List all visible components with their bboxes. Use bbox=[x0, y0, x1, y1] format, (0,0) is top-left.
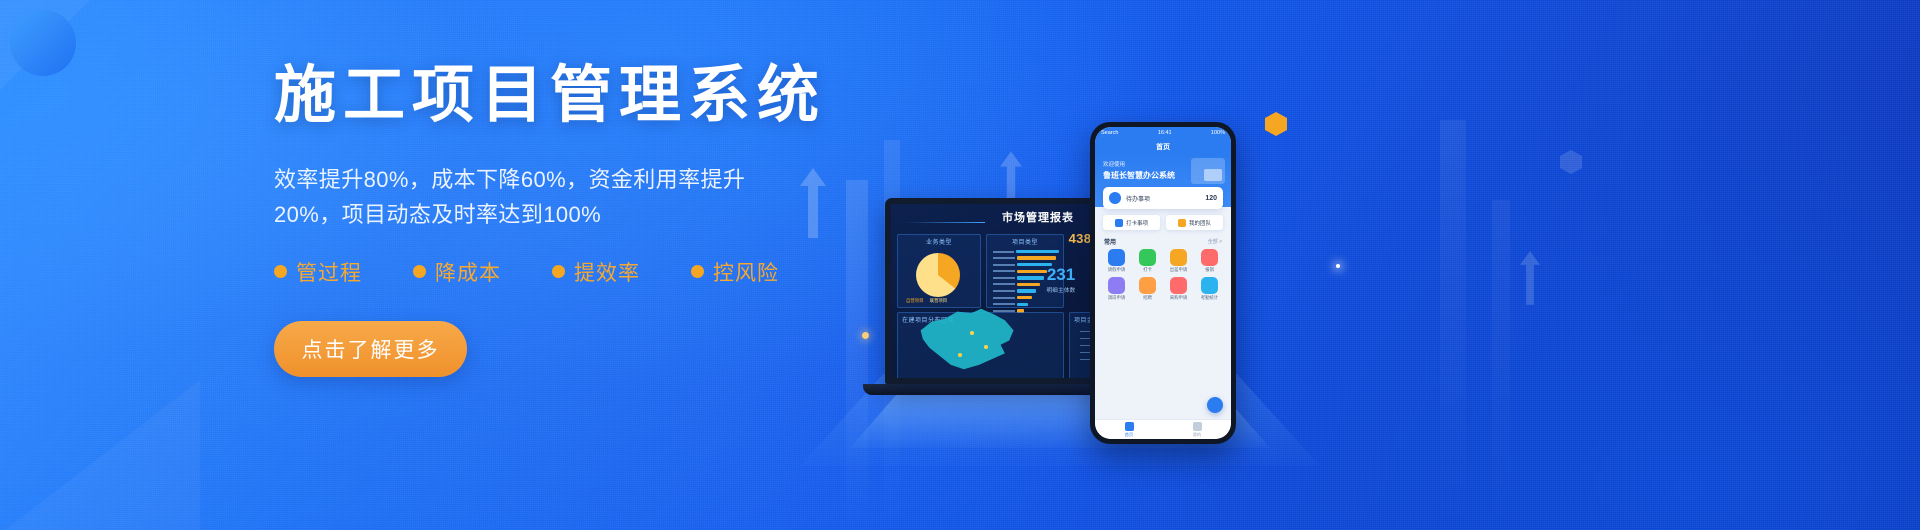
tab-profile[interactable]: 我的 bbox=[1193, 422, 1202, 438]
app-item[interactable]: 出差申请 bbox=[1164, 249, 1193, 273]
clock-icon bbox=[1115, 219, 1123, 227]
transfer-request-icon bbox=[1108, 277, 1125, 294]
purchase-request-icon bbox=[1170, 277, 1187, 294]
statusbar-battery: 100% bbox=[1211, 130, 1225, 136]
home-icon bbox=[1125, 422, 1134, 431]
reimbursement-icon bbox=[1201, 249, 1218, 266]
feature-label: 提效率 bbox=[574, 257, 640, 287]
leave-request-icon bbox=[1108, 249, 1125, 266]
hexagon-decoration bbox=[1560, 150, 1582, 174]
bar-decoration bbox=[1492, 200, 1510, 530]
feature-label: 管过程 bbox=[296, 257, 362, 287]
quick-action-buttons: 打卡事项 我的团队 bbox=[1103, 215, 1223, 230]
app-label: 打卡 bbox=[1133, 268, 1162, 273]
app-label: 采购申请 bbox=[1164, 296, 1193, 301]
map-marker bbox=[984, 345, 988, 349]
punch-card-icon bbox=[1139, 249, 1156, 266]
corner-triangle-decoration bbox=[0, 0, 130, 110]
bottom-left-triangle-decoration bbox=[0, 380, 200, 530]
device-mockup-stage: 市场管理报表 业务类型 自营项目 联营项目 项目类型 bbox=[790, 60, 1350, 490]
statusbar-time: 16:41 bbox=[1158, 130, 1172, 136]
pie-chart bbox=[916, 253, 960, 297]
app-item[interactable]: 请假申请 bbox=[1102, 249, 1131, 273]
tab-label: 我的 bbox=[1193, 432, 1202, 438]
tab-home[interactable]: 首页 bbox=[1125, 422, 1134, 438]
section-more-link[interactable]: 全部 > bbox=[1208, 238, 1222, 245]
feature-item-3: 提效率 bbox=[552, 257, 691, 287]
hero-banner: 施工项目管理系统 效率提升80%，成本下降60%，资金利用率提升20%，项目动态… bbox=[0, 0, 1920, 530]
quick-button-attendance[interactable]: 打卡事项 bbox=[1103, 215, 1160, 230]
hero-illustration bbox=[1191, 158, 1225, 184]
hero-subtitle: 效率提升80%，成本下降60%，资金利用率提升20%，项目动态及时率达到100% bbox=[274, 162, 794, 233]
bullet-icon bbox=[274, 265, 287, 278]
user-icon bbox=[1193, 422, 1202, 431]
learn-more-button[interactable]: 点击了解更多 bbox=[274, 321, 467, 377]
phone-statusbar: Search 16:41 100% bbox=[1095, 127, 1231, 139]
feature-label: 控风险 bbox=[713, 257, 779, 287]
panel-title: 项目类型 bbox=[987, 237, 1063, 246]
kpi-value: 231 bbox=[1033, 266, 1089, 283]
clipboard-icon bbox=[1109, 192, 1121, 204]
navbar-title: 首页 bbox=[1156, 142, 1170, 152]
team-icon bbox=[1178, 219, 1186, 227]
app-label: 调岗申请 bbox=[1102, 296, 1131, 301]
bar-decoration bbox=[1440, 120, 1466, 530]
section-header: 常用 全部 > bbox=[1104, 237, 1222, 246]
app-label: 报销 bbox=[1195, 268, 1224, 273]
app-label: 招聘 bbox=[1133, 296, 1162, 301]
map-marker bbox=[958, 353, 962, 357]
quick-button-label: 打卡事项 bbox=[1126, 219, 1148, 227]
feature-item-1: 管过程 bbox=[274, 257, 413, 287]
tab-label: 首页 bbox=[1125, 432, 1134, 438]
phone-screen: Search 16:41 100% 首页 欢迎使用 鲁班长智慧办公系统 待办事项… bbox=[1095, 127, 1231, 439]
floating-action-button[interactable] bbox=[1207, 397, 1223, 413]
feature-item-2: 降成本 bbox=[413, 257, 552, 287]
kpi-1: 231 明细主体数 bbox=[1033, 266, 1089, 294]
app-label: 考勤统计 bbox=[1195, 296, 1224, 301]
app-item[interactable]: 采购申请 bbox=[1164, 277, 1193, 301]
map-shape bbox=[912, 303, 1020, 375]
business-trip-icon bbox=[1170, 249, 1187, 266]
quick-button-team[interactable]: 我的团队 bbox=[1166, 215, 1223, 230]
panel-region-distribution: 在建项目分布区域 bbox=[897, 312, 1064, 384]
app-item[interactable]: 报销 bbox=[1195, 249, 1224, 273]
statusbar-carrier: Search bbox=[1101, 130, 1118, 136]
bullet-icon bbox=[552, 265, 565, 278]
app-grid: 请假申请 打卡 出差申请 报销 bbox=[1102, 249, 1224, 301]
quick-button-label: 我的团队 bbox=[1189, 219, 1211, 227]
kpi-label: 明细主体数 bbox=[1033, 286, 1089, 294]
app-item[interactable]: 打卡 bbox=[1133, 249, 1162, 273]
app-label: 出差申请 bbox=[1164, 268, 1193, 273]
map-marker bbox=[970, 331, 974, 335]
dashboard-title: 市场管理报表 bbox=[1002, 209, 1074, 225]
feature-label: 降成本 bbox=[435, 257, 501, 287]
attendance-stats-icon bbox=[1201, 277, 1218, 294]
app-item[interactable]: 考勤统计 bbox=[1195, 277, 1224, 301]
recruitment-icon bbox=[1139, 277, 1156, 294]
todo-count: 120 bbox=[1205, 195, 1217, 202]
phone-navbar: 首页 bbox=[1095, 139, 1231, 154]
app-item[interactable]: 招聘 bbox=[1133, 277, 1162, 301]
app-label: 请假申请 bbox=[1102, 268, 1131, 273]
china-map bbox=[912, 303, 1020, 375]
app-item[interactable]: 调岗申请 bbox=[1102, 277, 1131, 301]
todo-label: 待办事项 bbox=[1126, 194, 1150, 203]
phone-tabbar: 首页 我的 bbox=[1095, 419, 1231, 439]
bullet-icon bbox=[413, 265, 426, 278]
section-title: 常用 bbox=[1104, 237, 1116, 246]
bullet-icon bbox=[691, 265, 704, 278]
phone-mockup: Search 16:41 100% 首页 欢迎使用 鲁班长智慧办公系统 待办事项… bbox=[1090, 122, 1236, 444]
circle-decoration bbox=[10, 10, 76, 76]
panel-title: 业务类型 bbox=[898, 237, 980, 246]
todo-card[interactable]: 待办事项 120 bbox=[1103, 187, 1223, 209]
panel-business-type: 业务类型 自营项目 联营项目 bbox=[897, 234, 981, 308]
arrow-up-icon bbox=[1520, 250, 1540, 306]
